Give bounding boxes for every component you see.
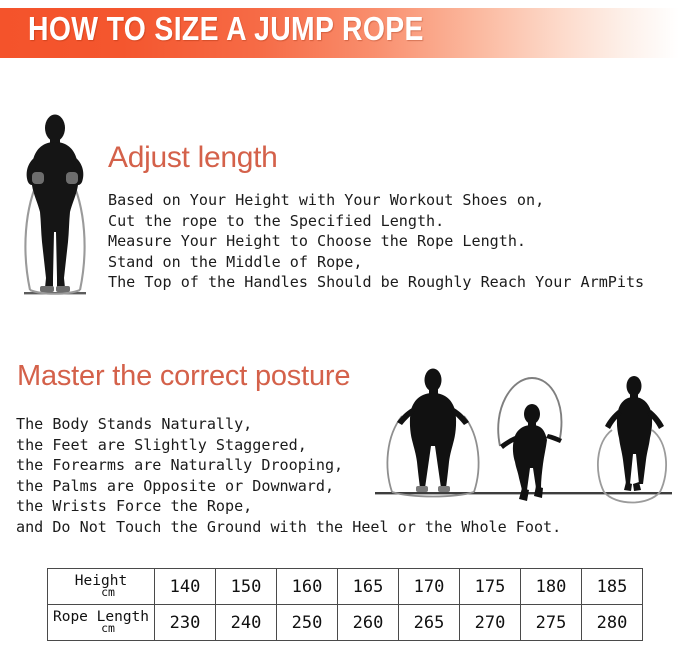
table-row: Height cm 140 150 160 165 170 175 180 18… <box>48 569 643 605</box>
height-cell: 140 <box>155 569 216 605</box>
rope-length-cell: 275 <box>521 605 582 641</box>
height-cell: 180 <box>521 569 582 605</box>
row-label-height: Height cm <box>48 569 155 605</box>
rope-length-cell: 265 <box>399 605 460 641</box>
rope-length-cell: 270 <box>460 605 521 641</box>
row-label-rope-length: Rope Length cm <box>48 605 155 641</box>
standing-person-illustration <box>14 112 96 302</box>
rope-length-cell: 260 <box>338 605 399 641</box>
height-cell: 185 <box>582 569 643 605</box>
pose-mid-jump <box>498 378 562 501</box>
row-unit-text: cm <box>48 587 154 599</box>
height-cell: 175 <box>460 569 521 605</box>
height-cell: 170 <box>399 569 460 605</box>
pose-jumping-loop <box>598 376 666 503</box>
rope-length-cell: 250 <box>277 605 338 641</box>
height-cell: 150 <box>216 569 277 605</box>
rope-length-cell: 240 <box>216 605 277 641</box>
pose-standing <box>387 369 478 497</box>
page-title: HOW TO SIZE A JUMP ROPE <box>28 11 424 47</box>
table-row: Rope Length cm 230 240 250 260 265 270 2… <box>48 605 643 641</box>
rope-length-cell: 230 <box>155 605 216 641</box>
jumping-poses-illustration <box>372 368 674 508</box>
adjust-length-heading: Adjust length <box>108 141 278 175</box>
adjust-length-body-text: Based on Your Height with Your Workout S… <box>108 190 644 293</box>
height-cell: 160 <box>277 569 338 605</box>
height-cell: 165 <box>338 569 399 605</box>
master-posture-heading: Master the correct posture <box>17 360 350 393</box>
jump-rope-size-table: Height cm 140 150 160 165 170 175 180 18… <box>47 568 643 641</box>
rope-length-cell: 280 <box>582 605 643 641</box>
